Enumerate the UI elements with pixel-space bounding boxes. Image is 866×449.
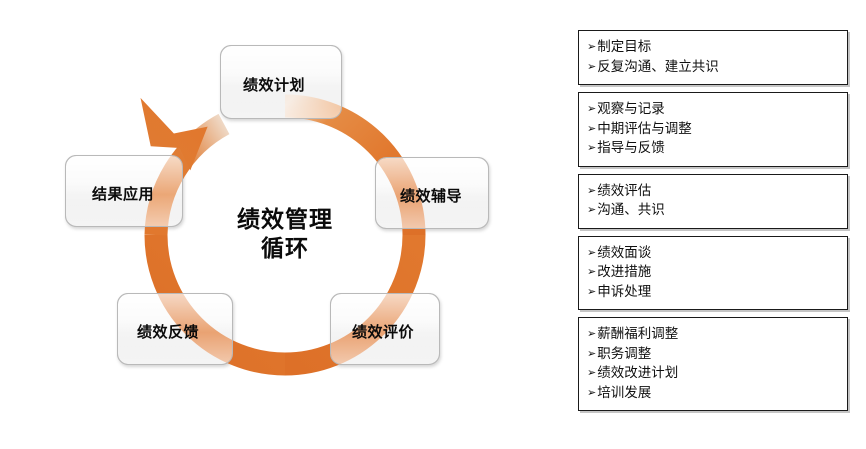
bullet-item-label: 指导与反馈 [597,142,665,156]
bullet-arrow-icon: ➢ [587,123,596,134]
bullet-item-label: 申诉处理 [597,286,651,300]
bullet-item: ➢改进措施 [587,263,839,283]
node-label-appraisal: 绩效评价 [352,321,414,342]
bullet-item: ➢申诉处理 [587,283,839,303]
bullet-item-label: 绩效面谈 [597,247,651,261]
diagram-center-title: 绩效管理 循环 [175,206,395,263]
bullet-item-label: 培训发展 [597,387,651,401]
bullet-item-label: 绩效改进计划 [597,367,678,381]
bullet-arrow-icon: ➢ [587,328,596,339]
box-feedback[interactable]: ➢绩效面谈➢改进措施➢申诉处理 [578,236,848,311]
bullet-item-label: 制定目标 [597,41,651,55]
bullet-item: ➢绩效面谈 [587,244,839,264]
box-coaching[interactable]: ➢观察与记录➢中期评估与调整➢指导与反馈 [578,92,848,167]
bullet-arrow-icon: ➢ [587,387,596,398]
bullet-item: ➢薪酬福利调整 [587,325,839,345]
bullet-arrow-icon: ➢ [587,204,596,215]
node-label-feedback: 绩效反馈 [137,321,199,342]
performance-cycle-diagram: 绩效计划 绩效辅导 绩效评价 绩效反馈 结果应用 绩效管理 循环 [0,0,560,449]
bullet-item-label: 中期评估与调整 [597,123,692,137]
bullet-arrow-icon: ➢ [587,247,596,258]
center-title-line-1: 绩效管理 [175,206,395,235]
bullet-arrow-icon: ➢ [587,348,596,359]
bullet-item: ➢指导与反馈 [587,139,839,159]
bullet-item-label: 薪酬福利调整 [597,328,678,342]
bullet-arrow-icon: ➢ [587,185,596,196]
center-title-line-2: 循环 [175,235,395,264]
bullet-item-label: 反复沟通、建立共识 [597,61,719,75]
box-plan[interactable]: ➢制定目标➢反复沟通、建立共识 [578,30,848,85]
bullet-panel: ➢制定目标➢反复沟通、建立共识➢观察与记录➢中期评估与调整➢指导与反馈➢绩效评估… [578,30,848,418]
bullet-arrow-icon: ➢ [587,142,596,153]
bullet-arrow-icon: ➢ [587,103,596,114]
bullet-arrow-icon: ➢ [587,286,596,297]
node-label-plan: 绩效计划 [243,74,305,95]
bullet-item-label: 沟通、共识 [597,204,665,218]
bullet-item-label: 职务调整 [597,348,651,362]
bullet-item-label: 改进措施 [597,266,651,280]
bullet-arrow-icon: ➢ [587,41,596,52]
bullet-item: ➢沟通、共识 [587,201,839,221]
bullet-arrow-icon: ➢ [587,367,596,378]
bullet-arrow-icon: ➢ [587,266,596,277]
node-label-coaching: 绩效辅导 [400,185,462,206]
box-results[interactable]: ➢薪酬福利调整➢职务调整➢绩效改进计划➢培训发展 [578,317,848,411]
bullet-item: ➢绩效改进计划 [587,364,839,384]
bullet-item: ➢反复沟通、建立共识 [587,58,839,78]
bullet-item: ➢培训发展 [587,384,839,404]
box-appraisal[interactable]: ➢绩效评估➢沟通、共识 [578,174,848,229]
bullet-arrow-icon: ➢ [587,61,596,72]
bullet-item: ➢职务调整 [587,345,839,365]
bullet-item: ➢观察与记录 [587,100,839,120]
bullet-item-label: 绩效评估 [597,185,651,199]
node-label-results: 结果应用 [92,183,154,204]
bullet-item: ➢中期评估与调整 [587,120,839,140]
bullet-item-label: 观察与记录 [597,103,665,117]
bullet-item: ➢绩效评估 [587,182,839,202]
bullet-item: ➢制定目标 [587,38,839,58]
